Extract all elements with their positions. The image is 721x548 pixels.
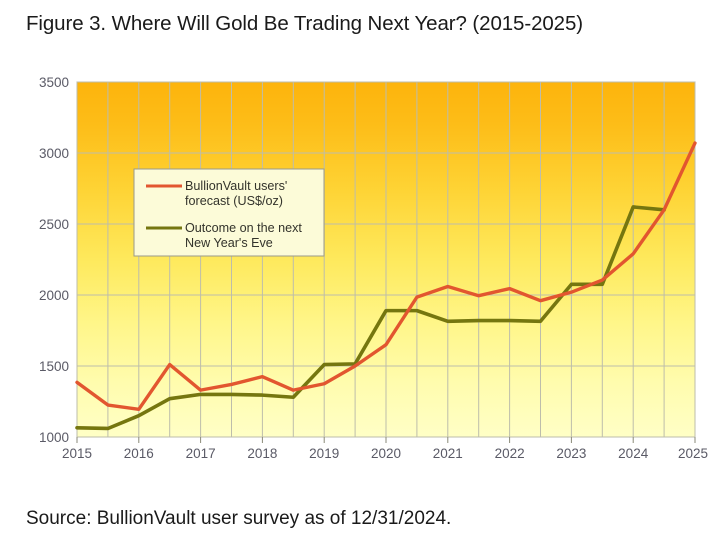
y-tick-label: 3000	[39, 146, 69, 161]
gold-price-line-chart: 3500 3000 2500 2000 1500 1000 2015 2016 …	[0, 58, 721, 478]
legend-label-outcome-line2: New Year's Eve	[185, 236, 273, 250]
source-note: Source: BullionVault user survey as of 1…	[26, 508, 451, 530]
x-tick-label: 2017	[186, 446, 216, 461]
x-tick-label: 2023	[556, 446, 586, 461]
page-title: Figure 3. Where Will Gold Be Trading Nex…	[26, 12, 583, 36]
y-tick-label: 1500	[39, 359, 69, 374]
legend-label-forecast-line2: forecast (US$/oz)	[185, 194, 283, 208]
x-tick-label: 2024	[618, 446, 649, 461]
y-tick-label: 1000	[39, 430, 69, 445]
x-tick-label: 2021	[433, 446, 463, 461]
x-tick-label: 2022	[495, 446, 525, 461]
y-tick-label: 3500	[39, 75, 69, 90]
x-axis-tick-labels: 2015 2016 2017 2018 2019 2020 2021 2022 …	[62, 446, 708, 461]
y-tick-label: 2000	[39, 288, 69, 303]
x-tick-label: 2018	[247, 446, 277, 461]
x-tick-label: 2016	[124, 446, 154, 461]
legend-label-outcome-line1: Outcome on the next	[185, 221, 302, 235]
y-axis-tick-labels: 3500 3000 2500 2000 1500 1000	[39, 75, 69, 445]
chart-container: 3500 3000 2500 2000 1500 1000 2015 2016 …	[0, 58, 721, 478]
x-axis-tick-marks	[77, 437, 695, 443]
chart-legend: BullionVault users' forecast (US$/oz) Ou…	[134, 169, 324, 256]
vertical-gridlines	[77, 82, 695, 437]
x-tick-label: 2020	[371, 446, 401, 461]
x-tick-label: 2019	[309, 446, 339, 461]
x-tick-label: 2025	[678, 446, 708, 461]
legend-label-forecast-line1: BullionVault users'	[185, 179, 287, 193]
y-tick-label: 2500	[39, 217, 69, 232]
x-tick-label: 2015	[62, 446, 92, 461]
